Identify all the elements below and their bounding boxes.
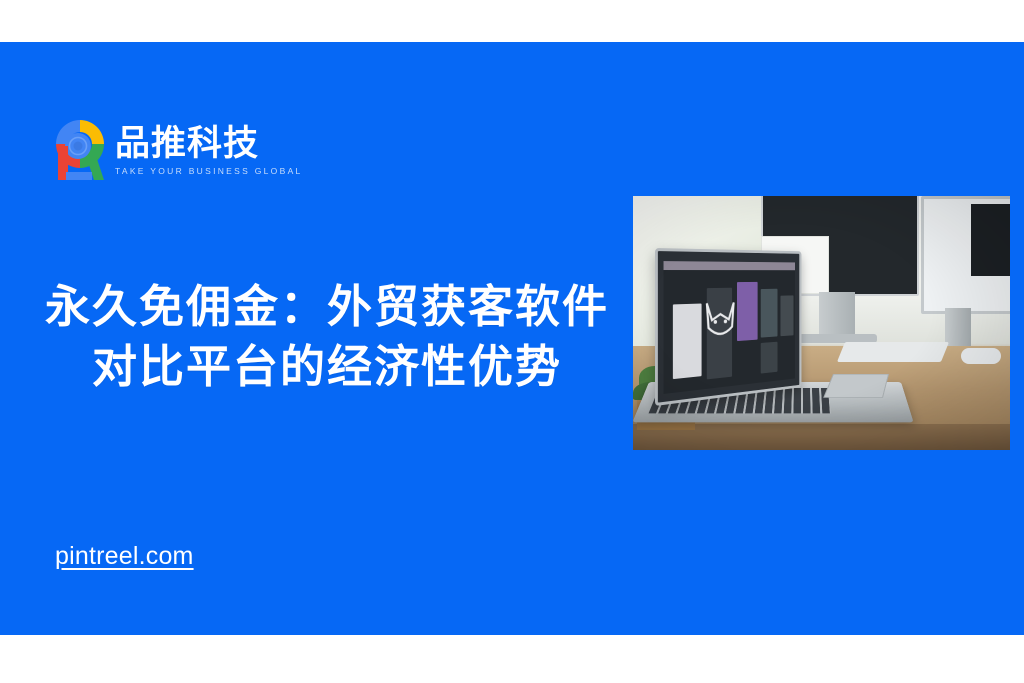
site-url-link[interactable]: pintreel.com [55, 542, 194, 571]
headline-line-2: 对比平台的经济性优势 [22, 337, 632, 397]
hero-photo-image [633, 196, 1010, 450]
logo-text: 品推科技 TAKE YOUR BUSINESS GLOBAL [115, 124, 303, 176]
logo-tagline: TAKE YOUR BUSINESS GLOBAL [115, 166, 303, 176]
logo-company-name: 品推科技 [115, 127, 303, 163]
photo-vignette [633, 196, 1010, 450]
pintreel-circular-pa-logo-icon [52, 116, 108, 184]
banner-canvas: 品推科技 TAKE YOUR BUSINESS GLOBAL 永久免佣金：外贸获… [0, 0, 1024, 683]
banner-blue-stage: 品推科技 TAKE YOUR BUSINESS GLOBAL 永久免佣金：外贸获… [0, 42, 1024, 635]
headline-line-1: 永久免佣金：外贸获客软件 [22, 277, 632, 337]
page-title: 永久免佣金：外贸获客软件 对比平台的经济性优势 [22, 277, 632, 397]
hero-photo [633, 196, 1010, 450]
logo[interactable]: 品推科技 TAKE YOUR BUSINESS GLOBAL [52, 116, 303, 184]
